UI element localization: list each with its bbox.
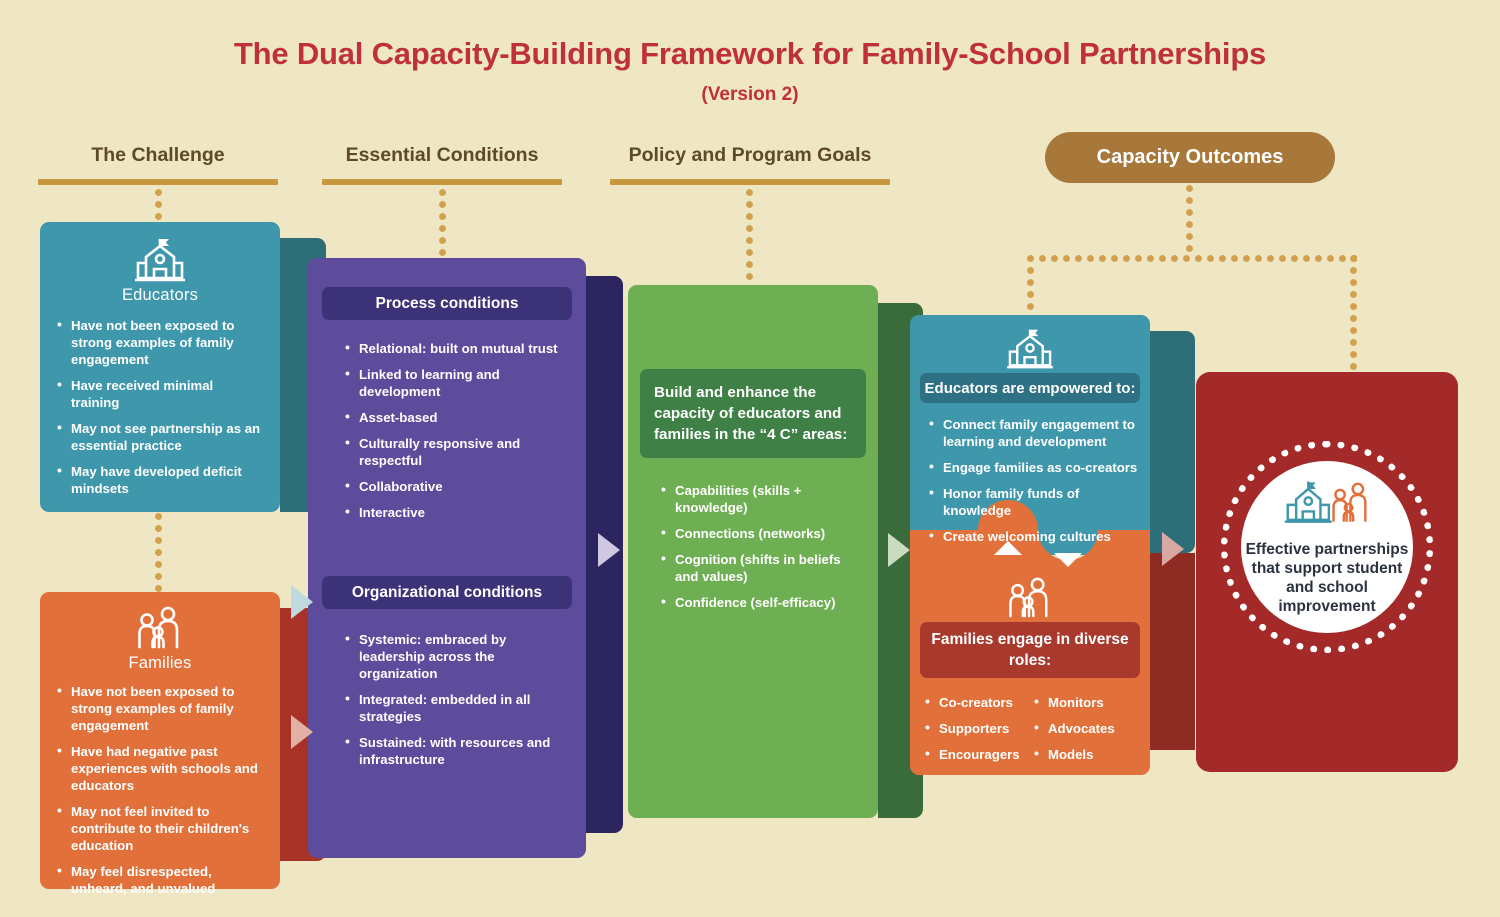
card-shadow-bottom (1150, 553, 1195, 750)
list-item: May feel disrespected, unheard, and unva… (56, 863, 264, 897)
list-item: Have not been exposed to strong examples… (56, 317, 264, 368)
column-rule-challenge (38, 179, 278, 185)
card-corner-notch (280, 222, 326, 238)
families-roles-banner: Families engage in diverse roles: (920, 622, 1140, 678)
list-item: Collaborative (344, 478, 568, 495)
card-bottom-notch (1150, 750, 1195, 775)
flow-arrow-icon (291, 715, 313, 749)
bullet-list-organizational: Systemic: embraced by leadership across … (344, 631, 568, 768)
connector-educators-families (155, 513, 162, 593)
list-item: Have had negative past experiences with … (56, 743, 264, 794)
roles-left-list: Co-creators Supporters Encouragers (924, 694, 1033, 772)
roles-right-list: Monitors Advocates Models (1033, 694, 1142, 772)
card-challenge-educators: Educators Have not been exposed to stron… (40, 222, 310, 512)
connector-goals-down (746, 189, 753, 285)
list-item: Integrated: embedded in all strategies (344, 691, 568, 725)
family-group-icon (910, 577, 1150, 619)
process-conditions-banner: Process conditions (322, 287, 572, 320)
column-header-challenge: The Challenge (38, 144, 278, 167)
card-corner-notch (1150, 315, 1195, 331)
list-item: Co-creators (924, 694, 1033, 711)
card-corner-notch (586, 258, 623, 276)
list-item: Engage families as co-creators (928, 459, 1138, 476)
list-item: Linked to learning and development (344, 366, 568, 400)
list-item: Supporters (924, 720, 1033, 737)
connector-outcomes-bar (1027, 255, 1357, 262)
family-group-icon (40, 606, 280, 650)
list-item: Interactive (344, 504, 568, 521)
result-text: Effective partnerships that support stud… (1246, 540, 1409, 616)
flow-arrow-icon (888, 533, 910, 567)
card-effective-partnerships: Effective partnerships that support stud… (1196, 372, 1458, 772)
flow-arrow-icon (598, 533, 620, 567)
card-challenge-families: Families Have not been exposed to strong… (40, 592, 310, 889)
list-item: Create welcoming cultures (928, 528, 1138, 545)
infographic-canvas: The Dual Capacity-Building Framework for… (0, 0, 1500, 917)
column-header-outcomes: Capacity Outcomes (1045, 132, 1335, 183)
list-item: Sustained: with resources and infrastruc… (344, 734, 568, 768)
list-item: May have developed deficit mindsets (56, 463, 264, 497)
card-content: Educators Have not been exposed to stron… (40, 222, 280, 506)
card-essential-conditions: Process conditions Relational: built on … (308, 258, 623, 858)
connector-outcomes-right (1350, 255, 1357, 375)
column-rule-essential (322, 179, 562, 185)
list-item: Asset-based (344, 409, 568, 426)
list-item: Cognition (shifts in beliefs and values) (660, 551, 862, 585)
organizational-conditions-group: Organizational conditions Systemic: embr… (308, 576, 586, 777)
column-rule-goals (610, 179, 890, 185)
list-item: Encouragers (924, 746, 1033, 763)
list-item: Monitors (1033, 694, 1142, 711)
bullet-list-educators-outcomes: Connect family engagement to learning an… (928, 416, 1138, 545)
card-bottom-notch (280, 861, 326, 889)
list-item: Confidence (self-efficacy) (660, 594, 862, 611)
bullet-list-process: Relational: built on mutual trust Linked… (344, 340, 568, 521)
list-item: May not feel invited to contribute to th… (56, 803, 264, 854)
flow-arrow-icon (1162, 532, 1184, 566)
card-content: Build and enhance the capacity of educat… (628, 285, 878, 620)
connector-challenge-down (155, 189, 162, 225)
card-content: Families Have not been exposed to strong… (40, 592, 280, 906)
school-building-icon (910, 327, 1150, 369)
list-item: Advocates (1033, 720, 1142, 737)
list-item: May not see partnership as an essential … (56, 420, 264, 454)
card-title: Families (40, 654, 280, 673)
result-circle: Effective partnerships that support stud… (1241, 461, 1413, 633)
school-and-family-icon (1284, 479, 1370, 532)
list-item: Have received minimal training (56, 377, 264, 411)
card-shadow-top (1150, 331, 1195, 553)
column-header-goals: Policy and Program Goals (610, 144, 890, 167)
goals-banner: Build and enhance the capacity of educat… (640, 369, 866, 458)
flow-arrow-icon (291, 585, 313, 619)
list-item: Systemic: embraced by leadership across … (344, 631, 568, 682)
page-subtitle: (Version 2) (0, 84, 1500, 106)
column-header-essential: Essential Conditions (322, 144, 562, 167)
outcomes-families-group: Families engage in diverse roles: Co-cre… (910, 577, 1150, 772)
list-item: Models (1033, 746, 1142, 763)
list-item: Capabilities (skills + knowledge) (660, 482, 862, 516)
card-corner-notch (878, 285, 923, 303)
connector-outcomes-left (1027, 255, 1034, 317)
bullet-list: Have not been exposed to strong examples… (56, 317, 264, 497)
list-item: Connect family engagement to learning an… (928, 416, 1138, 450)
bullet-list: Have not been exposed to strong examples… (56, 683, 264, 897)
page-title: The Dual Capacity-Building Framework for… (0, 36, 1500, 72)
list-item: Honor family funds of knowledge (928, 485, 1138, 519)
process-conditions-group: Process conditions Relational: built on … (308, 258, 586, 530)
list-item: Connections (networks) (660, 525, 862, 542)
connector-essential-down (439, 189, 446, 259)
family-roles-columns: Co-creators Supporters Encouragers Monit… (924, 694, 1142, 772)
list-item: Relational: built on mutual trust (344, 340, 568, 357)
card-title: Educators (40, 286, 280, 305)
card-capacity-outcomes: Educators are empowered to: Connect fami… (910, 315, 1195, 775)
school-building-icon (40, 236, 280, 282)
bullet-list-goals: Capabilities (skills + knowledge) Connec… (660, 482, 862, 611)
list-item: Culturally responsive and respectful (344, 435, 568, 469)
card-bottom-notch (586, 833, 623, 858)
list-item: Have not been exposed to strong examples… (56, 683, 264, 734)
card-policy-program-goals: Build and enhance the capacity of educat… (628, 285, 923, 818)
educators-empowered-banner: Educators are empowered to: (920, 373, 1140, 403)
connector-outcomes-stem (1186, 185, 1193, 257)
outcomes-educators-group: Educators are empowered to: Connect fami… (910, 315, 1150, 554)
organizational-conditions-banner: Organizational conditions (322, 576, 572, 609)
